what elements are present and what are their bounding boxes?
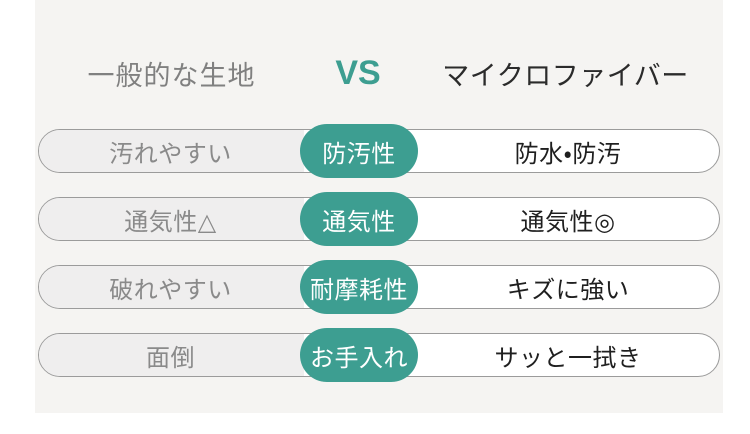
- comparison-row: 通気性△ 通気性 通気性◎: [35, 192, 723, 246]
- row-right-value: キズに強い: [418, 265, 718, 309]
- row-feature-badge: 耐摩耗性: [300, 260, 418, 314]
- header-left-title: 一般的な生地: [35, 54, 308, 93]
- row-right-value: 通気性◎: [418, 197, 718, 241]
- comparison-row: 破れやすい 耐摩耗性 キズに強い: [35, 260, 723, 314]
- row-left-value: 汚れやすい: [38, 129, 303, 173]
- header-right-title: マイクロファイバー: [408, 54, 723, 93]
- comparison-canvas: 一般的な生地 VS マイクロファイバー 汚れやすい 防汚性 防水・防汚 通気性△…: [35, 0, 723, 413]
- row-feature-badge: 防汚性: [300, 124, 418, 178]
- row-left-value: 通気性△: [38, 197, 303, 241]
- comparison-row: 汚れやすい 防汚性 防水・防汚: [35, 124, 723, 178]
- row-feature-badge: 通気性: [300, 192, 418, 246]
- row-left-value: 面倒: [38, 333, 303, 377]
- row-left-value: 破れやすい: [38, 265, 303, 309]
- header-vs-label: VS: [308, 54, 408, 93]
- comparison-header: 一般的な生地 VS マイクロファイバー: [35, 44, 723, 102]
- comparison-row: 面倒 お手入れ サッと一拭き: [35, 328, 723, 382]
- comparison-rows: 汚れやすい 防汚性 防水・防汚 通気性△ 通気性 通気性◎ 破れやすい 耐摩耗性…: [35, 124, 723, 396]
- row-right-value: サッと一拭き: [418, 333, 718, 377]
- row-right-value: 防水・防汚: [418, 129, 718, 173]
- row-feature-badge: お手入れ: [300, 328, 418, 382]
